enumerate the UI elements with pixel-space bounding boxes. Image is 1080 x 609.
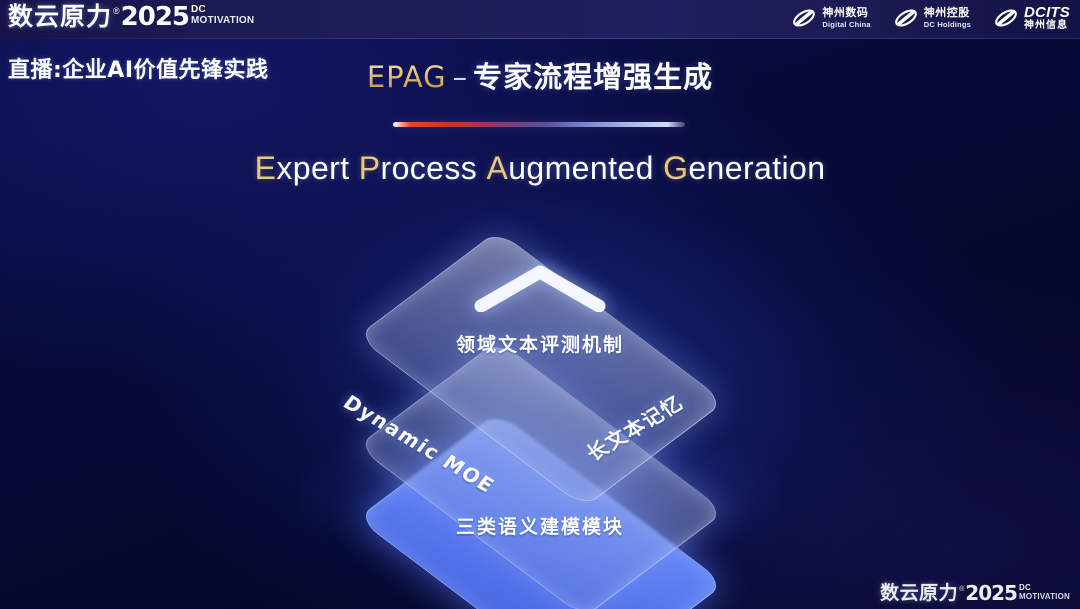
watermark-name-cn: 数云原力 [880,582,958,605]
subtitle-word-process: rocess [381,150,478,186]
partner-name-en: Digital China [822,21,870,29]
registered-mark-icon: ® [959,584,964,595]
swoosh-icon [993,5,1019,31]
watermark-sub-dc: DC [1019,584,1070,592]
subtitle-cap-a: A [486,150,508,186]
watermark-year: 2025 [965,582,1017,605]
title-chinese: 专家流程增强生成 [473,60,713,94]
brand-sub-dc: DC [191,5,254,15]
partner-logo-group: 神州数码 Digital China 神州控股 DC Holdings DCIT… [791,5,1070,31]
brand-sub-lockup: DC MOTIVATION [191,5,254,26]
watermark-logo: 数云原力 ® 2025 DC MOTIVATION [880,582,1070,605]
subtitle-cap-p: P [359,150,381,186]
brand-sub-motivation: MOTIVATION [191,15,254,26]
title-dash: – [453,60,468,94]
subtitle-cap-g: G [663,150,688,186]
brand-name-cn: 数云原力 [8,2,112,32]
subtitle-word-generation: eneration [688,150,825,186]
subtitle-word-expert: xpert [276,150,349,186]
partner-dc-holdings: 神州控股 DC Holdings [893,5,971,31]
partner-name-en: DC Holdings [924,21,971,29]
brand-logo: 数云原力 ® 2025 DC MOTIVATION [8,2,254,32]
partner-label: DCITS 神州信息 [1024,5,1070,31]
brand-year: 2025 [121,2,189,32]
subtitle-cap-e: E [255,150,277,186]
subtitle: Expert Process Augmented Generation [0,150,1080,187]
partner-digital-china: 神州数码 Digital China [791,5,870,31]
page-title: EPAG–专家流程增强生成 [0,54,1080,96]
partner-name-cn: 神州控股 [924,8,971,19]
gradient-divider [393,122,685,127]
watermark-sub-lockup: DC MOTIVATION [1019,584,1070,601]
swoosh-icon [893,5,919,31]
title-acronym: EPAG [367,60,447,94]
partner-label: 神州数码 Digital China [822,8,870,29]
partner-label: 神州控股 DC Holdings [924,8,971,29]
slide-canvas: 数云原力 ® 2025 DC MOTIVATION 直播:企业AI价值先锋实践 … [0,0,1080,609]
partner-name-en: DCITS [1024,5,1070,20]
partner-name-cn: 神州数码 [822,8,870,19]
subtitle-word-augmented: ugmented [508,150,654,186]
partner-dcits: DCITS 神州信息 [993,5,1070,31]
registered-mark-icon: ® [113,4,120,18]
layered-architecture-diagram: 领域文本评测机制 Dynamic MOE 长文本记忆 三类语义建模模块 [288,228,792,568]
watermark-sub-motivation: MOTIVATION [1019,592,1070,601]
partner-name-cn: 神州信息 [1024,21,1070,31]
swoosh-icon [791,5,817,31]
